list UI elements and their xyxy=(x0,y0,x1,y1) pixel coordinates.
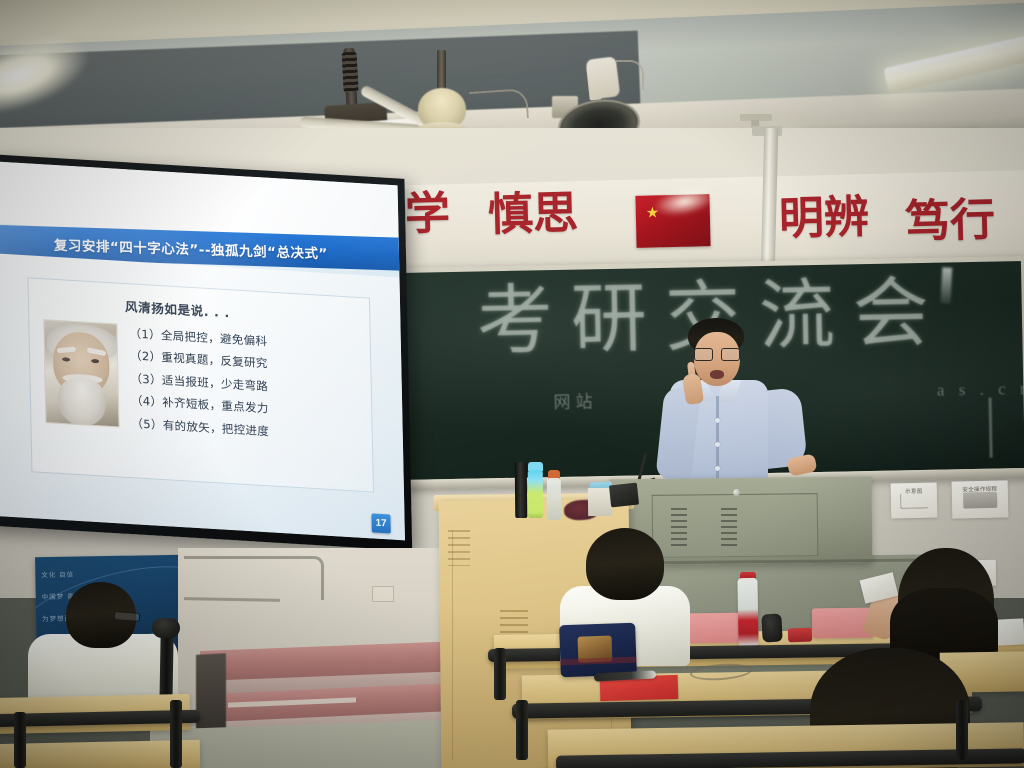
lectern-vent xyxy=(721,508,737,546)
white-box-icon xyxy=(588,488,612,516)
ceiling-fan-rod xyxy=(437,50,446,92)
bag-trim xyxy=(560,657,636,666)
wall-fan-wire xyxy=(616,60,644,90)
desk-leg xyxy=(170,700,182,768)
portrait-eye xyxy=(62,357,70,361)
chalk-sub-left: 网站 xyxy=(553,387,597,413)
chalk-mark xyxy=(940,267,952,303)
slide-heading: 风清扬如是说. . . xyxy=(125,296,230,321)
navy-bag-icon xyxy=(559,623,637,678)
dark-object xyxy=(609,483,639,508)
slide-number-badge: 17 xyxy=(371,513,390,533)
presenter xyxy=(640,318,808,504)
dark-object xyxy=(761,613,782,642)
chalk-sub-right: a s . c n xyxy=(937,379,1024,406)
clear-bottle-icon xyxy=(547,478,561,520)
wall-outlet-icon xyxy=(372,586,394,602)
projector-mount-rod xyxy=(343,48,357,110)
portrait-eye xyxy=(91,359,99,363)
chair-post-cap xyxy=(152,618,180,638)
cyan-green-bottle-icon xyxy=(528,470,544,518)
shirt-button xyxy=(715,442,720,447)
ceiling-wire xyxy=(469,88,529,122)
desk-leg xyxy=(516,700,528,760)
desk-leg xyxy=(494,648,506,700)
slide-content-panel: 风清扬如是说. . . （1）全局把控，避免偏科 （2）重视真题，反复研究 xyxy=(27,277,374,492)
poster-diagram-icon xyxy=(963,492,997,508)
lock-icon xyxy=(733,489,740,496)
wall-slogan-char-3: 明辨 xyxy=(778,195,869,242)
step-shadow xyxy=(196,653,226,731)
slide-body: 风清扬如是说. . . （1）全局把控，避免偏科 （2）重视真题，反复研究 xyxy=(0,253,405,541)
wall-poster-2: 安全操作规程 xyxy=(952,480,1009,518)
wall-poster-1: 示意图 xyxy=(891,483,938,519)
desk-leg xyxy=(14,712,26,768)
wall-slogan-char-4: 笃行 xyxy=(904,198,995,245)
red-can-icon xyxy=(788,628,812,643)
black-thermos-icon xyxy=(515,462,528,518)
glasses-icon xyxy=(694,348,740,359)
glasses-icon xyxy=(114,611,141,622)
wall-slogan-char-2: 慎思 xyxy=(487,191,578,238)
wall-conduit xyxy=(184,556,324,600)
slide-bullet-list: （1）全局把控，避免偏科 （2）重视真题，反复研究 （3）适当报班，少走弯路 （… xyxy=(129,322,362,448)
poster-diagram-icon xyxy=(900,494,928,509)
national-flag-icon: ★ xyxy=(635,194,710,248)
presenter-mouth xyxy=(710,370,724,379)
slide-portrait-photo xyxy=(43,319,119,427)
desk-leg xyxy=(956,700,968,760)
projection-screen: 复习安排“四十字心法”--独孤九剑“总决式” 风清扬如是说. . . xyxy=(0,153,412,551)
water-bottle-icon xyxy=(737,578,758,646)
shirt-button xyxy=(715,418,720,423)
student-left xyxy=(18,582,178,702)
screen-surface: 复习安排“四十字心法”--独孤九剑“总决式” 风清扬如是说. . . xyxy=(0,161,405,541)
student-head xyxy=(586,528,664,600)
shirt-button xyxy=(715,466,720,471)
podium-vent xyxy=(448,530,470,566)
portrait-beard xyxy=(57,377,106,428)
wall-slogan-char-1: 学 xyxy=(404,191,450,237)
classroom-photo: 学 慎思 ★ 明辨 笃行 考研交流会 网站 a s . c n 示意图 安全操作… xyxy=(0,0,1024,768)
